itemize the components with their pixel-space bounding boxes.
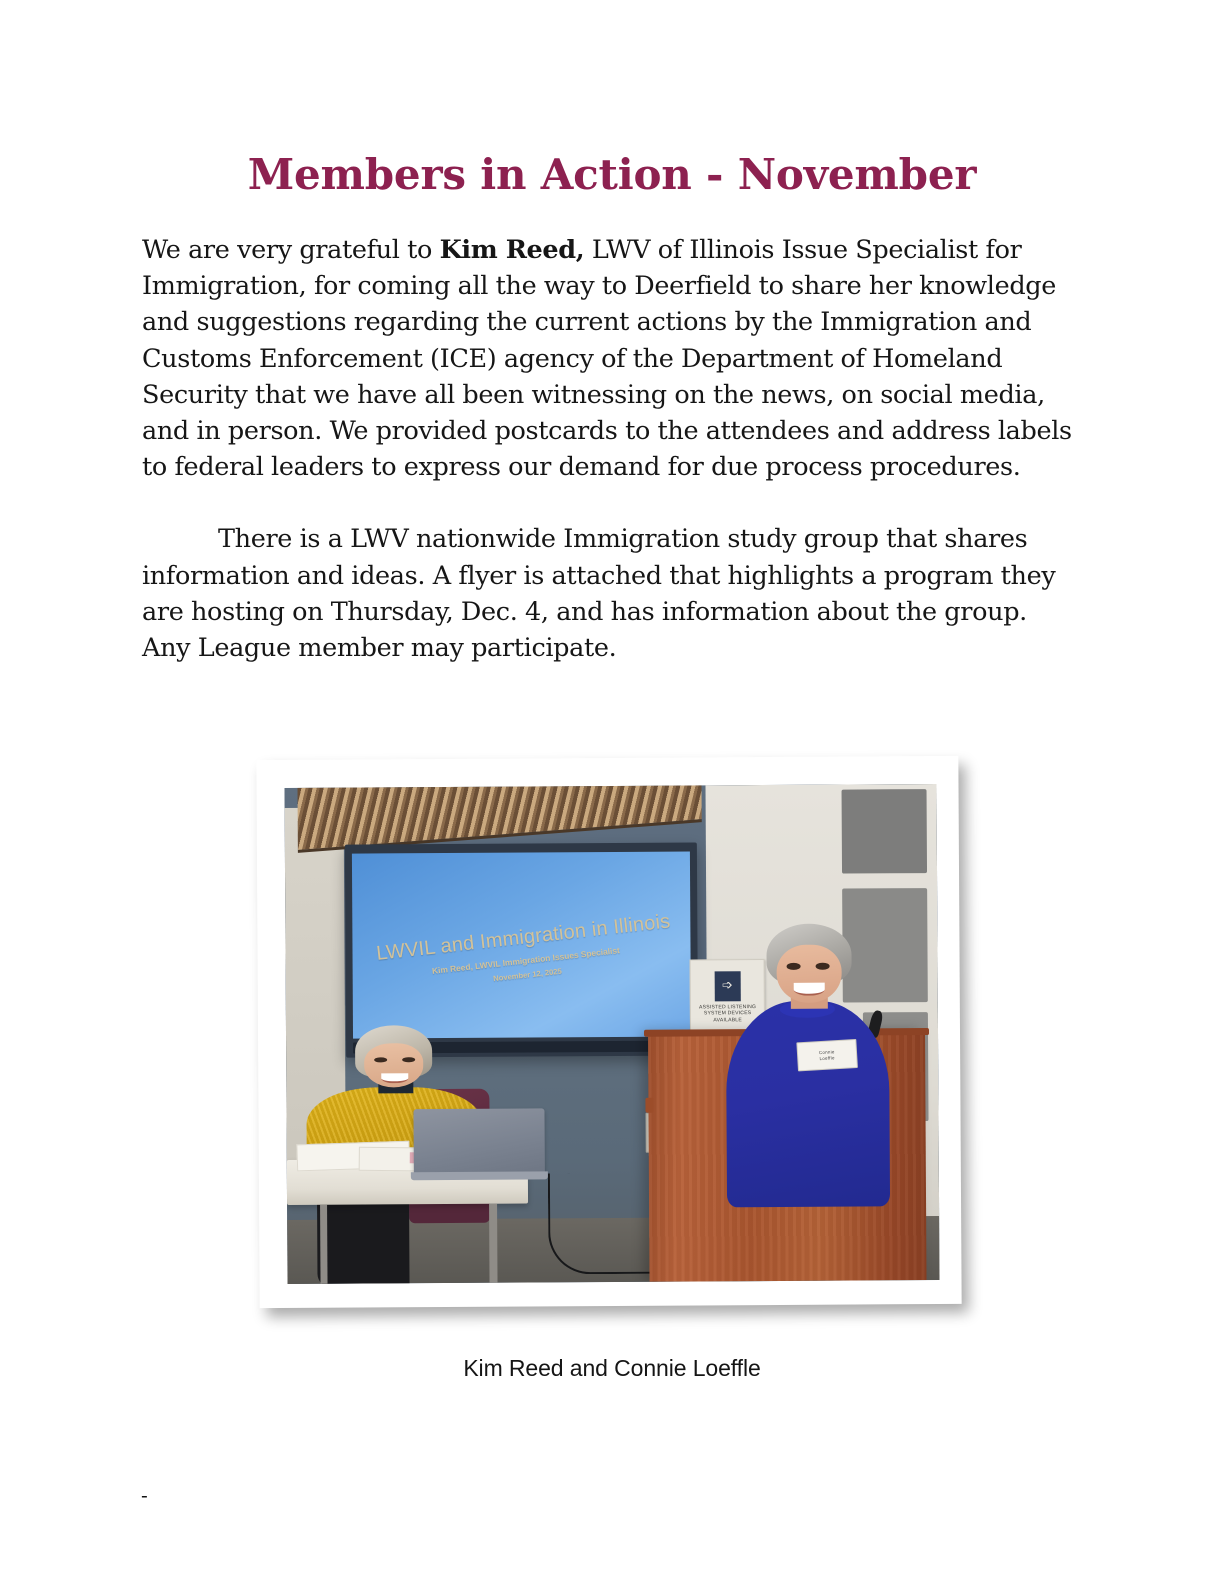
- speaker-eye-right: [816, 963, 830, 970]
- presentation-slide-text: LWVIL and Immigration in Illinois Kim Re…: [364, 909, 685, 997]
- document-page: Members in Action - November We are very…: [0, 0, 1224, 1584]
- laptop-screen: [414, 1109, 545, 1174]
- table-leg-right: [489, 1203, 497, 1284]
- paragraph-intro: We are very grateful to Kim Reed, LWV of…: [142, 232, 1077, 485]
- speaker-blue-turtleneck: [726, 1000, 890, 1207]
- document-body: We are very grateful to Kim Reed, LWV of…: [142, 232, 1077, 666]
- name-tag-line-2: Loeffle: [820, 1054, 836, 1061]
- seated-attendee-eye-right: [403, 1057, 415, 1062]
- speaker-smile: [794, 983, 825, 996]
- paragraph-study-group: There is a LWV nationwide Immigration st…: [142, 521, 1077, 666]
- speaker-name-highlight: Kim Reed,: [440, 235, 585, 265]
- paragraph-intro-segment-1: We are very grateful to: [142, 235, 440, 265]
- table-leg-left: [320, 1204, 328, 1284]
- paragraph-intro-segment-3: LWV of Illinois Issue Specialist for Imm…: [142, 235, 1072, 482]
- acoustic-panel-top: [842, 789, 927, 874]
- event-photo: LWVIL and Immigration in Illinois Kim Re…: [285, 784, 940, 1284]
- photo-caption: Kim Reed and Connie Loeffle: [0, 1355, 1224, 1382]
- speaker-at-podium: Connie Loeffle: [722, 923, 893, 1132]
- projection-screen-surface: LWVIL and Immigration in Illinois Kim Re…: [352, 852, 690, 1039]
- footer-dash-mark: -: [141, 1485, 148, 1505]
- event-photo-figure: LWVIL and Immigration in Illinois Kim Re…: [258, 758, 960, 1306]
- podium-side-knob: [645, 1098, 653, 1113]
- paragraph-study-group-segment-1: There is a LWV nationwide Immigration st…: [142, 524, 1055, 663]
- photo-frame: LWVIL and Immigration in Illinois Kim Re…: [256, 756, 961, 1308]
- speaker-name-tag: Connie Loeffle: [797, 1038, 858, 1071]
- seated-attendee-eye-left: [374, 1057, 386, 1062]
- page-title: Members in Action - November: [0, 152, 1224, 198]
- laptop-base: [411, 1171, 548, 1180]
- seated-attendee-smile: [381, 1073, 407, 1083]
